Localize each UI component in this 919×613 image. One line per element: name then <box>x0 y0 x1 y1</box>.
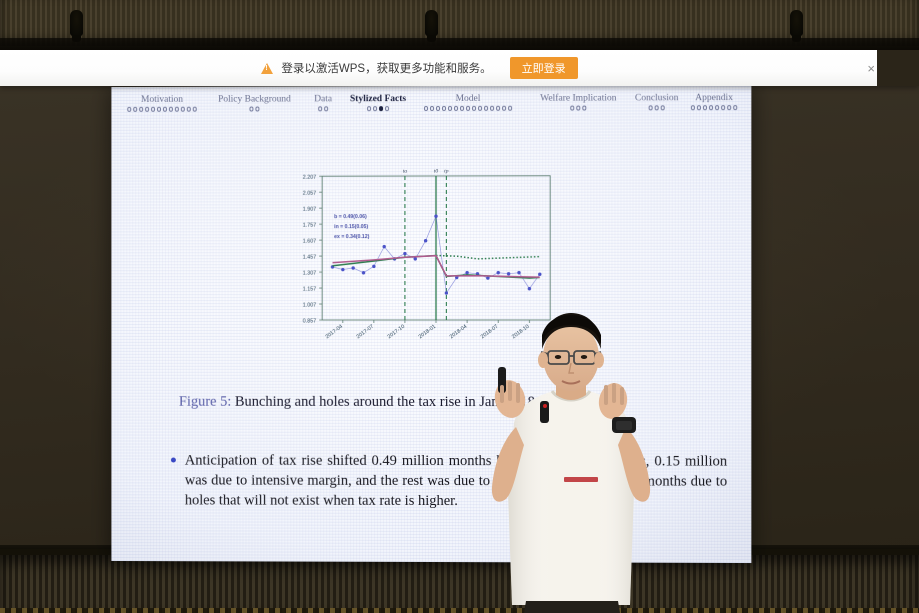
nav-section-policy-background[interactable]: Policy Background <box>207 94 303 111</box>
chart-data-point <box>497 271 500 274</box>
nav-dot[interactable] <box>139 107 143 111</box>
presenter-trousers <box>524 601 620 613</box>
chart-vline-label: ta <box>403 169 408 175</box>
nav-dot[interactable] <box>508 106 513 111</box>
shirt-logo <box>564 477 598 482</box>
chart-data-point <box>341 268 344 271</box>
nav-section-label: Welfare Implication <box>530 93 626 104</box>
chart-data-point <box>362 271 365 274</box>
nav-dot[interactable] <box>484 106 489 111</box>
nav-section-dots <box>340 106 416 111</box>
nav-section-stylized-facts[interactable]: Stylized Facts <box>340 94 416 111</box>
nav-dot[interactable] <box>157 107 161 111</box>
wristwatch-icon <box>612 417 636 433</box>
nav-dot[interactable] <box>324 106 328 111</box>
lapel-microphone-icon <box>540 401 549 423</box>
lecture-room-scene: MotivationPolicy BackgroundDataStylized … <box>0 0 919 613</box>
nav-section-motivation[interactable]: Motivation <box>119 95 204 112</box>
chart-annotation: ex = 0.34(0.12) <box>334 234 370 240</box>
y-axis-tick-label: 2.057 <box>303 191 316 197</box>
nav-dot[interactable] <box>460 106 465 111</box>
chart-data-point <box>372 265 375 268</box>
nav-dot[interactable] <box>502 106 507 111</box>
nav-dot[interactable] <box>733 105 738 110</box>
nav-dot[interactable] <box>163 107 167 111</box>
nav-dot[interactable] <box>648 105 653 110</box>
chart-vline-label: t0 <box>434 168 439 174</box>
figure-caption-label: Figure 5: <box>179 394 231 410</box>
nav-dot[interactable] <box>436 106 441 111</box>
nav-section-dots <box>119 107 204 112</box>
nav-dot[interactable] <box>478 106 483 111</box>
floor-strip <box>0 608 919 613</box>
nav-dot[interactable] <box>181 107 185 111</box>
y-axis-tick-label: 0.857 <box>303 319 316 325</box>
nav-dot[interactable] <box>424 106 428 111</box>
nav-section-label: Motivation <box>119 95 204 106</box>
nav-dot[interactable] <box>373 106 377 111</box>
nav-section-dots <box>623 105 689 110</box>
nav-dot[interactable] <box>466 106 471 111</box>
y-axis-tick-label: 1.157 <box>303 287 316 293</box>
y-axis-tick-label: 1.907 <box>303 207 316 213</box>
y-axis-tick-label: 1.457 <box>303 255 316 261</box>
y-axis-tick-label: 1.307 <box>303 271 316 277</box>
nav-dot[interactable] <box>454 106 459 111</box>
nav-section-label: Stylized Facts <box>340 94 416 105</box>
chart-data-point <box>486 276 489 279</box>
y-axis-tick-label: 1.607 <box>303 239 316 245</box>
chart-data-point <box>351 266 354 269</box>
nav-dot[interactable] <box>442 106 447 111</box>
nav-section-appendix[interactable]: Appendix <box>683 93 745 110</box>
chart-data-point <box>528 287 531 290</box>
nav-dot[interactable] <box>721 105 726 110</box>
nav-section-dots <box>683 105 745 110</box>
y-axis-tick-label: 1.007 <box>303 303 316 309</box>
chart-data-point <box>414 257 417 260</box>
login-now-button[interactable]: 立即登录 <box>510 57 578 79</box>
nav-dot[interactable] <box>187 107 191 111</box>
chart-annotation: b = 0.49(0.06) <box>334 214 367 220</box>
nav-dot[interactable] <box>367 106 371 111</box>
presenter-speaker <box>478 305 664 613</box>
banner-right-wall-cap <box>877 50 919 86</box>
y-axis-tick-label: 2.207 <box>303 175 316 181</box>
nav-dot[interactable] <box>570 106 575 111</box>
chart-data-point <box>383 245 386 248</box>
slatted-radiator-panel <box>0 555 919 613</box>
nav-dot[interactable] <box>249 107 253 112</box>
nav-dot[interactable] <box>576 106 581 111</box>
nav-dot[interactable] <box>448 106 453 111</box>
x-axis-tick-label: 2017-10 <box>387 324 407 340</box>
chart-data-point <box>434 215 437 218</box>
nav-dot[interactable] <box>691 105 696 110</box>
nav-dot[interactable] <box>133 107 137 111</box>
nav-section-welfare-implication[interactable]: Welfare Implication <box>530 93 626 110</box>
nav-dot[interactable] <box>727 105 732 110</box>
nav-dot[interactable] <box>496 106 501 111</box>
nav-section-label: Data <box>306 94 340 105</box>
nav-dot[interactable] <box>697 105 702 110</box>
chart-data-point <box>538 273 541 276</box>
nav-section-label: Appendix <box>683 93 745 104</box>
nav-dot[interactable] <box>472 106 477 111</box>
nav-dot[interactable] <box>255 107 259 112</box>
nav-dot[interactable] <box>169 107 173 111</box>
chart-data-point <box>517 271 520 274</box>
nav-dot[interactable] <box>175 107 179 111</box>
x-axis-tick-label: 2018-04 <box>449 324 469 340</box>
ceiling-light-fixture <box>425 10 438 36</box>
nav-section-label: Model <box>413 94 523 105</box>
chart-data-point <box>403 252 406 255</box>
chart-annotation: in = 0.15(0.05) <box>334 224 368 230</box>
chart-data-point <box>507 272 510 275</box>
slide-section-navbar: MotivationPolicy BackgroundDataStylized … <box>111 93 751 125</box>
x-axis-tick-label: 2017-04 <box>325 324 344 340</box>
x-axis-tick-label: 2018-01 <box>418 324 438 340</box>
nav-dot[interactable] <box>318 106 322 111</box>
nav-section-conclusion[interactable]: Conclusion <box>623 93 689 110</box>
chart-vline-label: tp <box>444 168 449 174</box>
chart-series-counterfactual-no-tax-rise <box>436 255 540 258</box>
banner-message: 登录以激活WPS，获取更多功能和服务。 <box>281 60 491 76</box>
nav-dot[interactable] <box>709 105 714 110</box>
nav-dot[interactable] <box>654 105 659 110</box>
nav-dot[interactable] <box>127 107 131 111</box>
nav-dot[interactable] <box>430 106 434 111</box>
chart-data-point <box>465 271 468 274</box>
nav-dot[interactable] <box>703 105 708 110</box>
nav-section-dots <box>530 105 626 110</box>
y-axis-tick-label: 1.757 <box>303 223 316 229</box>
nav-dot[interactable] <box>582 106 587 111</box>
nav-dot[interactable] <box>151 107 155 111</box>
ceiling-shadow <box>0 38 919 50</box>
close-icon[interactable]: × <box>867 62 875 75</box>
warning-triangle-icon <box>261 63 273 74</box>
wps-login-banner: 登录以激活WPS，获取更多功能和服务。 立即登录 × <box>0 50 919 86</box>
nav-section-model[interactable]: Model <box>413 94 523 111</box>
nav-dot[interactable] <box>385 106 389 111</box>
nav-section-dots <box>306 106 340 111</box>
nav-section-data[interactable]: Data <box>306 94 340 111</box>
nav-section-label: Policy Background <box>207 94 303 105</box>
nav-section-label: Conclusion <box>623 93 689 104</box>
bullet-dot-icon <box>171 458 176 463</box>
nav-section-dots <box>207 106 303 111</box>
nav-dot[interactable] <box>145 107 149 111</box>
nav-dot-current[interactable] <box>379 106 383 111</box>
nav-dot[interactable] <box>660 105 665 110</box>
x-axis-tick-label: 2017-07 <box>356 324 376 340</box>
chart-data-point <box>445 291 448 294</box>
nav-section-dots <box>413 106 523 111</box>
nav-dot[interactable] <box>193 107 197 111</box>
ceiling-light-fixture <box>70 10 83 36</box>
nav-dot[interactable] <box>715 105 720 110</box>
chart-data-point <box>424 239 427 242</box>
ceiling-light-fixture <box>790 10 803 36</box>
nav-dot[interactable] <box>490 106 495 111</box>
